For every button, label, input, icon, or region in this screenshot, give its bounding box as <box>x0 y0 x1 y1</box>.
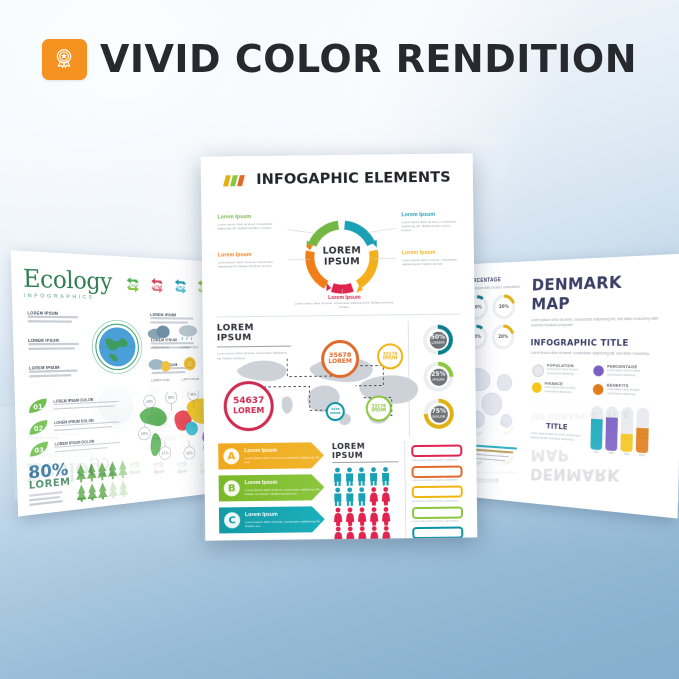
leaf-step: 01 LOREM IPSUM DOLOR <box>26 394 129 416</box>
callout-left-3: LOREM IPSUM <box>29 365 84 380</box>
tube-bar-2[interactable] <box>605 407 618 452</box>
coin-icon <box>178 355 202 372</box>
weather-item: LOREM IPSUM <box>147 323 172 349</box>
tube-bars: 70% 75% 40% <box>590 406 649 458</box>
svg-text:50%: 50% <box>186 451 194 456</box>
cloud-icon <box>147 323 172 340</box>
donut-25[interactable]: 25% IPSUM <box>423 362 453 392</box>
svg-text:LOREM: LOREM <box>152 284 162 289</box>
bar-pill-item[interactable]: Lorem ipsum dolor sit amet, consectetur. <box>412 465 463 482</box>
recycle-icon: LOREM <box>123 276 143 296</box>
svg-text:30%: 30% <box>168 395 176 399</box>
svg-text:02: 02 <box>34 425 44 434</box>
svg-text:LOREM: LOREM <box>176 285 186 289</box>
tree-pictogram <box>75 456 131 505</box>
poster-infographic-elements[interactable]: INFOGAPHIC ELEMENTS <box>201 153 478 540</box>
arrow-banner-c[interactable]: C Lorem Ipsum Lorem ipsum dolor sit amet… <box>219 506 325 533</box>
ecology-stat: 80% LOREM <box>28 456 131 511</box>
callout-left-2: LOREM IPSUM <box>28 338 83 352</box>
svg-text:45%: 45% <box>190 392 198 396</box>
leaf-icon: 01 <box>26 397 49 415</box>
ecology-title: Ecology <box>23 265 113 295</box>
legend-grid: POPULATION Lorem ipsum dolor sit amet co… <box>532 364 668 398</box>
tube-bar-1[interactable] <box>590 406 603 450</box>
arrow-banner-b[interactable]: B Lorem Ipsum Lorem ipsum dolor sit amet… <box>219 474 325 501</box>
svg-text:LOREM: LOREM <box>128 284 139 289</box>
weather-item: LOREM IPSUM <box>177 324 201 350</box>
bar-pill-item[interactable]: Lorem ipsum dolor sit amet, consectetur. <box>412 526 463 540</box>
poster-ecology[interactable]: Ecology INFOGRAPHICS LOREM LOREM LOREM L… <box>11 250 226 516</box>
denmark-heading-block: DENMARK MAP Lorem ipsum dolor sit amet, … <box>530 270 669 356</box>
legend-item-benefits[interactable]: BENEFITS Lorem ipsum dolor sit amet cons… <box>593 383 652 397</box>
svg-text:03: 03 <box>34 446 44 455</box>
cycle-diagram: LOREM IPSUM Lorem Ipsum Lorem ipsum dolo… <box>215 205 468 308</box>
award-badge-icon <box>42 39 87 80</box>
legend-item-percentage[interactable]: PERCENTAGE Lorem ipsum dolor sit amet co… <box>593 365 652 381</box>
recycle-icon: LOREM <box>171 278 190 297</box>
bar-pill-item[interactable]: Lorem ipsum dolor sit amet, consectetur. <box>412 506 463 523</box>
donut-50[interactable]: 50% LOREM <box>423 325 453 355</box>
tube-bar-3[interactable] <box>620 407 633 452</box>
cycle-label-4: Lorem Ipsum Lorem ipsum dolor sit amet, … <box>402 250 458 267</box>
cycle-label-3: Lorem Ipsum Lorem ipsum dolor sit amet, … <box>218 252 274 269</box>
cycle-label-2: Lorem Ipsum Lorem ipsum dolor sit amet, … <box>401 212 457 233</box>
recycle-icon: LOREM <box>147 277 167 297</box>
cloud-coin-icon <box>147 356 172 373</box>
bar-pill-item[interactable]: Lorem ipsum dolor sit amet, consectetur. <box>411 445 462 462</box>
cycle-label-5: Lorem Ipsum Lorem ipsum dolor sit amet, … <box>290 294 398 310</box>
legend-dot <box>593 366 604 377</box>
legend-dot <box>532 383 542 394</box>
people-pictogram-chart: LOREM IPSUM <box>332 441 400 540</box>
denmark-title: DENMARK MAP <box>531 270 670 313</box>
globe-icon <box>88 316 146 378</box>
center-poster-title: INFOGAPHIC ELEMENTS <box>256 170 451 188</box>
svg-text:60%: 60% <box>141 431 149 436</box>
leaf-steps-list: 01 LOREM IPSUM DOLOR 02 LOREM IPSUM DOLO… <box>26 394 131 511</box>
legend-dot <box>532 365 544 378</box>
bar-pill-item[interactable]: Lorem ipsum dolor sit amet, consectetur. <box>412 485 463 502</box>
divider <box>217 314 461 318</box>
screenshot-canvas: VIVID COLOR RENDITION Ecology INFOGRAPHI… <box>0 0 679 679</box>
weather-item: LOREM IPSUM <box>147 356 172 383</box>
leaf-icon: 03 <box>28 440 51 459</box>
rain-cloud-icon <box>177 324 201 341</box>
tube-bar-4[interactable] <box>636 408 649 454</box>
bar-pill-list: Lorem ipsum dolor sit amet, consectetur.… <box>411 441 463 541</box>
legend-item-finance[interactable]: FINANCE Lorem ipsum dolor sit amet conse… <box>532 382 587 395</box>
svg-text:20%: 20% <box>146 399 154 404</box>
map-marker-3478[interactable]: 3478 IPSUM <box>326 402 345 421</box>
leaf-icon: 02 <box>27 419 50 437</box>
leaf-step: 03 LOREM IPSUM DOLOR <box>28 435 131 459</box>
tube-chart-block: TITLE Lorem ipsum dolor sit amet, consec… <box>530 404 666 460</box>
legend-dot <box>593 384 604 395</box>
legend-item-population[interactable]: POPULATION Lorem ipsum dolor sit amet co… <box>532 364 587 379</box>
percent-donut-20b[interactable]: 20% <box>492 325 515 350</box>
recycle-icon-row: LOREM LOREM LOREM LOREM <box>123 276 213 298</box>
page-title: VIVID COLOR RENDITION <box>100 37 637 81</box>
leaf-step: 02 LOREM IPSUM DOLOR <box>27 414 130 437</box>
cycle-center-label: LOREM IPSUM <box>322 246 361 267</box>
donut-75[interactable]: 75% DOLOR <box>424 399 454 429</box>
weather-item: LOREM IPSUM <box>178 355 202 381</box>
map-marker-33178-bottom[interactable]: 33178 IPSUM <box>366 395 392 421</box>
svg-text:01: 01 <box>33 403 43 411</box>
cycle-label-1: Lorem Ipsum Lorem ipsum dolor sit amet, … <box>217 214 273 231</box>
header-banner: VIVID COLOR RENDITION <box>0 28 679 90</box>
percent-donut-20a[interactable]: 20% <box>492 295 515 320</box>
svg-text:15%: 15% <box>162 451 170 456</box>
infographic-subtitle: INFOGRAPHIC TITLE <box>530 337 668 347</box>
arrow-banner-a[interactable]: A Lorem Ipsum Lorem ipsum dolor sit amet… <box>218 442 324 469</box>
callout-left-1: LOREM IPSUM <box>27 311 82 325</box>
poster-denmark-map[interactable]: PERCENTAGE Lorem ipsum dolor sit amet co… <box>450 254 679 519</box>
center-poster-header: INFOGAPHIC ELEMENTS <box>215 170 459 189</box>
diagonal-stripes-logo <box>223 175 249 186</box>
arrow-banner-list: A Lorem Ipsum Lorem ipsum dolor sit amet… <box>218 442 325 540</box>
people-rows <box>332 467 399 541</box>
